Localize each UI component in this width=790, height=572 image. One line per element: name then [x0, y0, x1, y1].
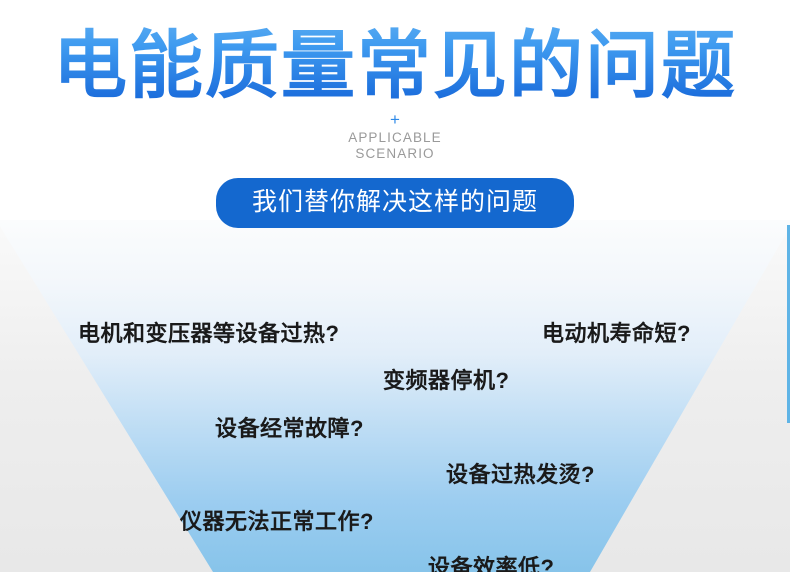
- header: 电能质量常见的问题 + APPLICABLE SCENARIO 我们替你解决这样…: [0, 0, 790, 228]
- plus-icon: +: [0, 112, 790, 128]
- problem-item: 设备效率低?: [428, 554, 554, 572]
- cta-container: 我们替你解决这样的问题: [0, 178, 790, 228]
- problem-item: 设备过热发烫?: [446, 461, 595, 489]
- problem-item: 变频器停机?: [383, 367, 509, 395]
- problem-item: 设备经常故障?: [215, 415, 364, 443]
- page-title: 电能质量常见的问题: [0, 0, 790, 108]
- problem-item: 电动机寿命短?: [542, 320, 691, 348]
- problem-item: 仪器无法正常工作?: [180, 508, 374, 536]
- eyebrow-text: APPLICABLE SCENARIO: [0, 130, 790, 162]
- funnel-graphic: [0, 220, 790, 572]
- eyebrow-line-1: APPLICABLE: [0, 130, 790, 146]
- promo-banner: 电能质量常见的问题 + APPLICABLE SCENARIO 我们替你解决这样…: [0, 0, 790, 572]
- solve-problems-button[interactable]: 我们替你解决这样的问题: [216, 178, 574, 228]
- eyebrow-line-2: SCENARIO: [0, 146, 790, 162]
- problem-item: 电机和变压器等设备过热?: [78, 320, 339, 348]
